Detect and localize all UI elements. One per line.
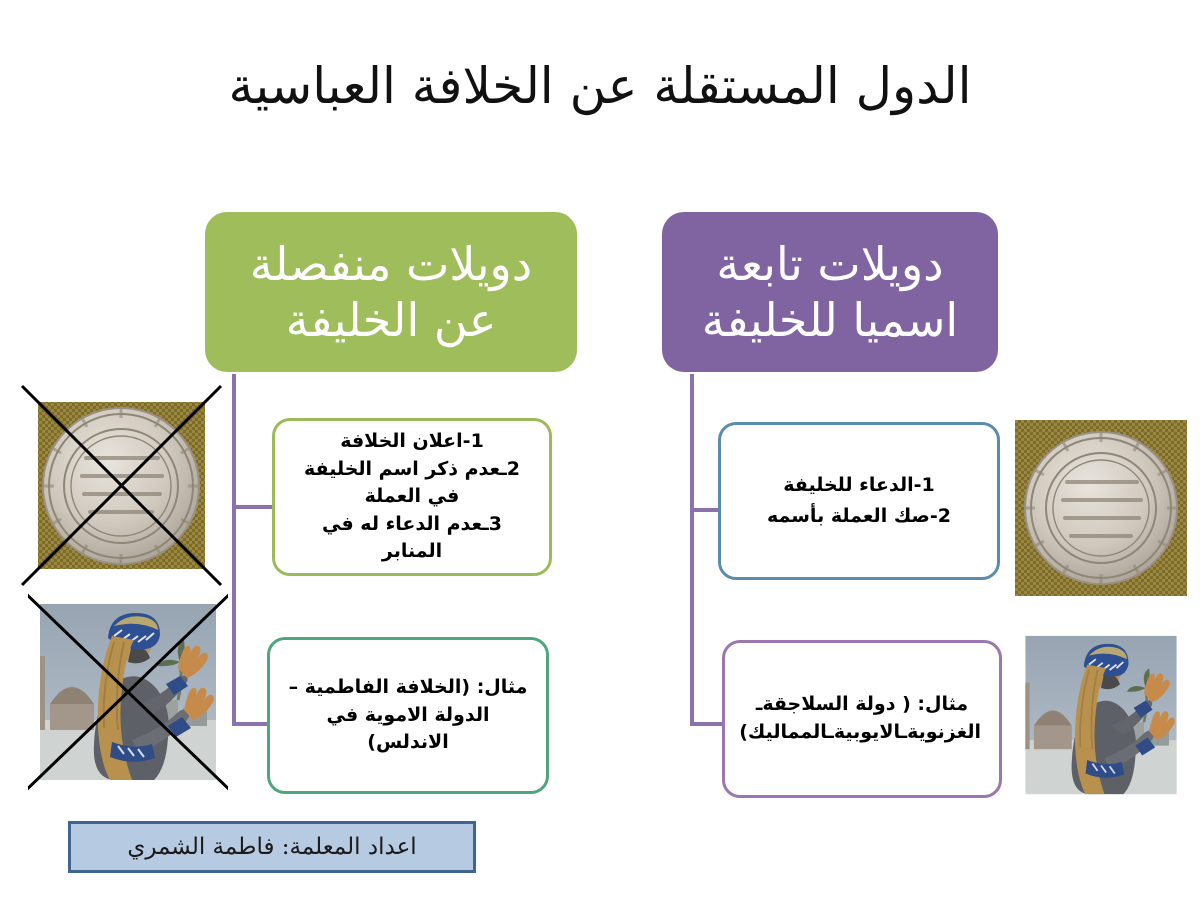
slide-canvas: الدول المستقلة عن الخلافة العباسية دويلا… <box>0 0 1200 900</box>
connector-left-trunk <box>232 374 236 726</box>
header-box-separate-states[interactable]: دويلات منفصلة عن الخليفة <box>205 212 577 372</box>
connector-right-trunk <box>690 374 694 726</box>
right-example-line-1: مثال: ( دولة السلاجقةـ <box>743 691 981 719</box>
left-criteria-box[interactable]: 1-اعلان الخلافة 2ـعدم ذكر اسم الخليفة في… <box>272 418 552 576</box>
left-example-line-1: مثال: (الخلافة الفاطمية – <box>288 674 528 702</box>
left-criteria-line-2: 2ـعدم ذكر اسم الخليفة في العملة <box>293 456 531 511</box>
right-example-line-2: الغزنويةـالايوبيةـالمماليك) <box>743 719 981 747</box>
dua-image-crossed <box>28 592 228 792</box>
connector-left-to-criteria <box>232 505 276 509</box>
dua-image-plain <box>1015 625 1187 805</box>
connector-left-to-example <box>232 722 272 726</box>
left-criteria-line-1: 1-اعلان الخلافة <box>293 428 531 456</box>
left-example-box[interactable]: مثال: (الخلافة الفاطمية – الدولة الاموية… <box>267 637 549 794</box>
teacher-credit-label: اعداد المعلمة: فاطمة الشمري <box>127 834 416 860</box>
right-criteria-line-2: 2-صك العملة بأسمه <box>739 501 979 532</box>
page-title: الدول المستقلة عن الخلافة العباسية <box>0 58 1200 116</box>
header-box-nominal-states-label: دويلات تابعة اسميا للخليفة <box>676 236 984 348</box>
header-box-separate-states-label: دويلات منفصلة عن الخليفة <box>219 236 563 348</box>
teacher-credit-box: اعداد المعلمة: فاطمة الشمري <box>68 821 476 873</box>
header-box-nominal-states[interactable]: دويلات تابعة اسميا للخليفة <box>662 212 998 372</box>
left-criteria-line-3: 3ـعدم الدعاء له في المنابر <box>293 511 531 566</box>
right-criteria-box[interactable]: 1-الدعاء للخليفة 2-صك العملة بأسمه <box>718 422 1000 580</box>
right-criteria-line-1: 1-الدعاء للخليفة <box>739 470 979 501</box>
coin-image-crossed <box>18 382 225 589</box>
left-example-line-2: الدولة الاموية في الاندلس) <box>288 702 528 757</box>
coin-image-plain <box>1015 420 1187 596</box>
right-example-box[interactable]: مثال: ( دولة السلاجقةـ الغزنويةـالايوبية… <box>722 640 1002 798</box>
